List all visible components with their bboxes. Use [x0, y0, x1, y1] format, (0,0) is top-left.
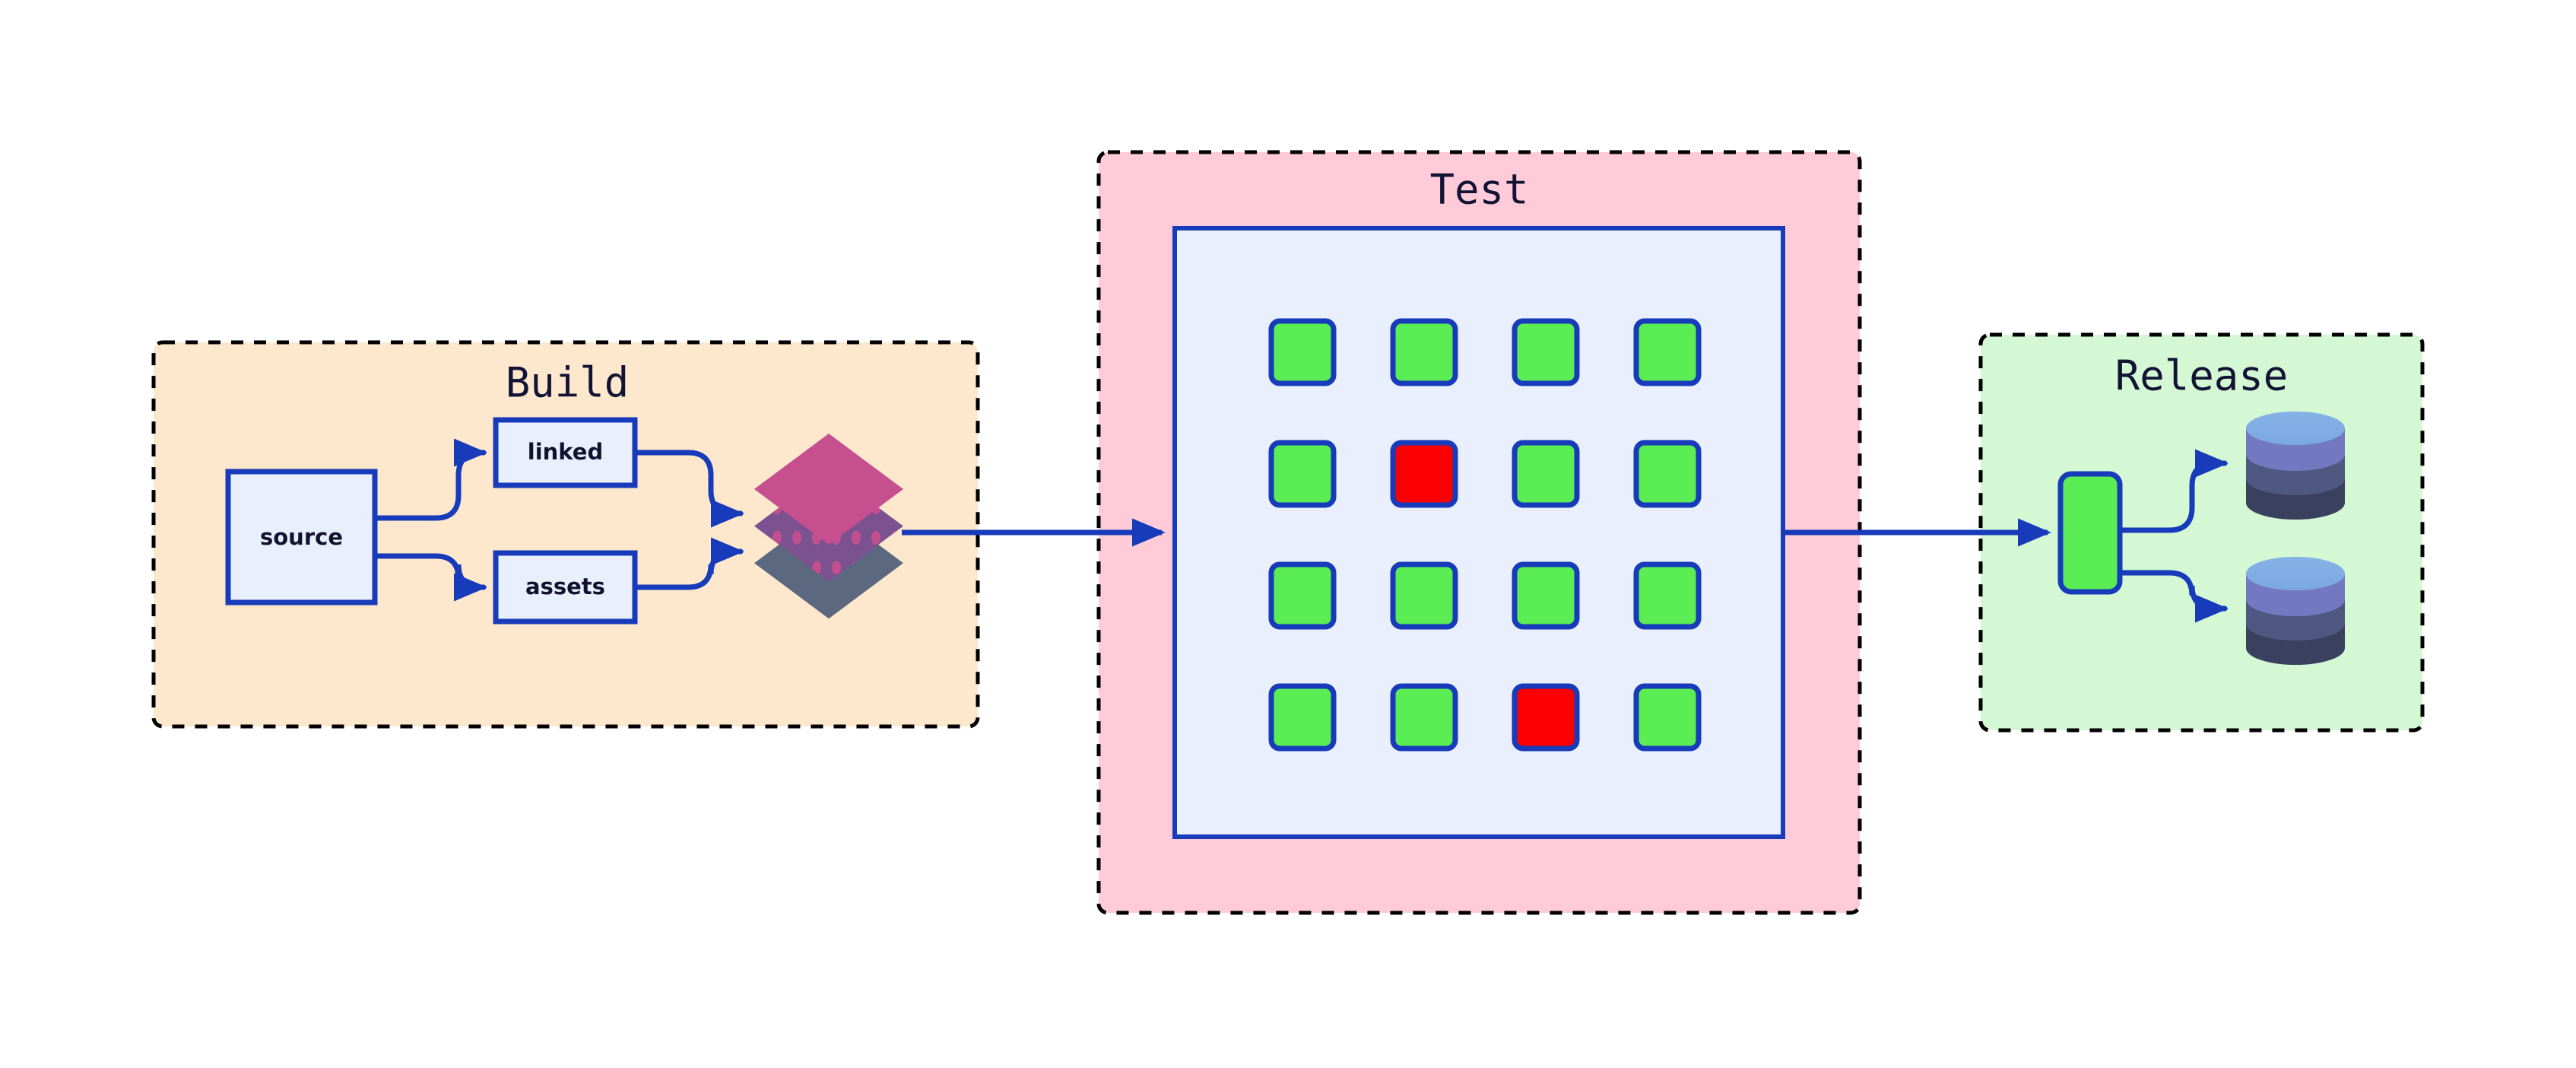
test-cell[interactable]	[1636, 443, 1699, 505]
test-cell[interactable]	[1271, 564, 1334, 627]
test-cell[interactable]	[1271, 443, 1334, 505]
test-cell[interactable]	[1636, 321, 1699, 383]
node-linked-label: linked	[528, 439, 603, 465]
db-top-ellipse	[2246, 412, 2345, 445]
node-source[interactable]: source	[228, 472, 375, 602]
diagram-canvas: Build source linked assets	[0, 0, 2576, 1068]
database-icon-top	[2246, 412, 2345, 520]
test-cell[interactable]	[1515, 443, 1577, 505]
test-cell[interactable]	[1636, 686, 1699, 749]
node-assets[interactable]: assets	[496, 553, 635, 621]
test-cell[interactable]	[1515, 564, 1577, 627]
test-cell[interactable]	[1393, 564, 1455, 627]
group-test: Test	[1099, 152, 1860, 913]
node-deploy-box[interactable]	[2060, 474, 2120, 592]
test-cell[interactable]	[1393, 686, 1455, 749]
node-source-label: source	[260, 524, 343, 550]
group-build-title: Build	[506, 359, 630, 407]
node-assets-label: assets	[525, 574, 605, 599]
group-release-title: Release	[2115, 352, 2289, 400]
node-deploy[interactable]	[2060, 474, 2120, 592]
test-cell-failed[interactable]	[1393, 443, 1455, 505]
database-icon-bottom	[2246, 557, 2345, 665]
test-cell[interactable]	[1636, 564, 1699, 627]
test-cell[interactable]	[1271, 686, 1334, 749]
group-test-title: Test	[1429, 166, 1528, 214]
test-cell-failed[interactable]	[1515, 686, 1577, 749]
test-cell[interactable]	[1393, 321, 1455, 383]
test-cell[interactable]	[1271, 321, 1334, 383]
db-top-ellipse	[2246, 557, 2345, 590]
pipeline-diagram: Build source linked assets	[0, 0, 2576, 1068]
test-cell[interactable]	[1515, 321, 1577, 383]
node-linked[interactable]: linked	[496, 420, 635, 485]
